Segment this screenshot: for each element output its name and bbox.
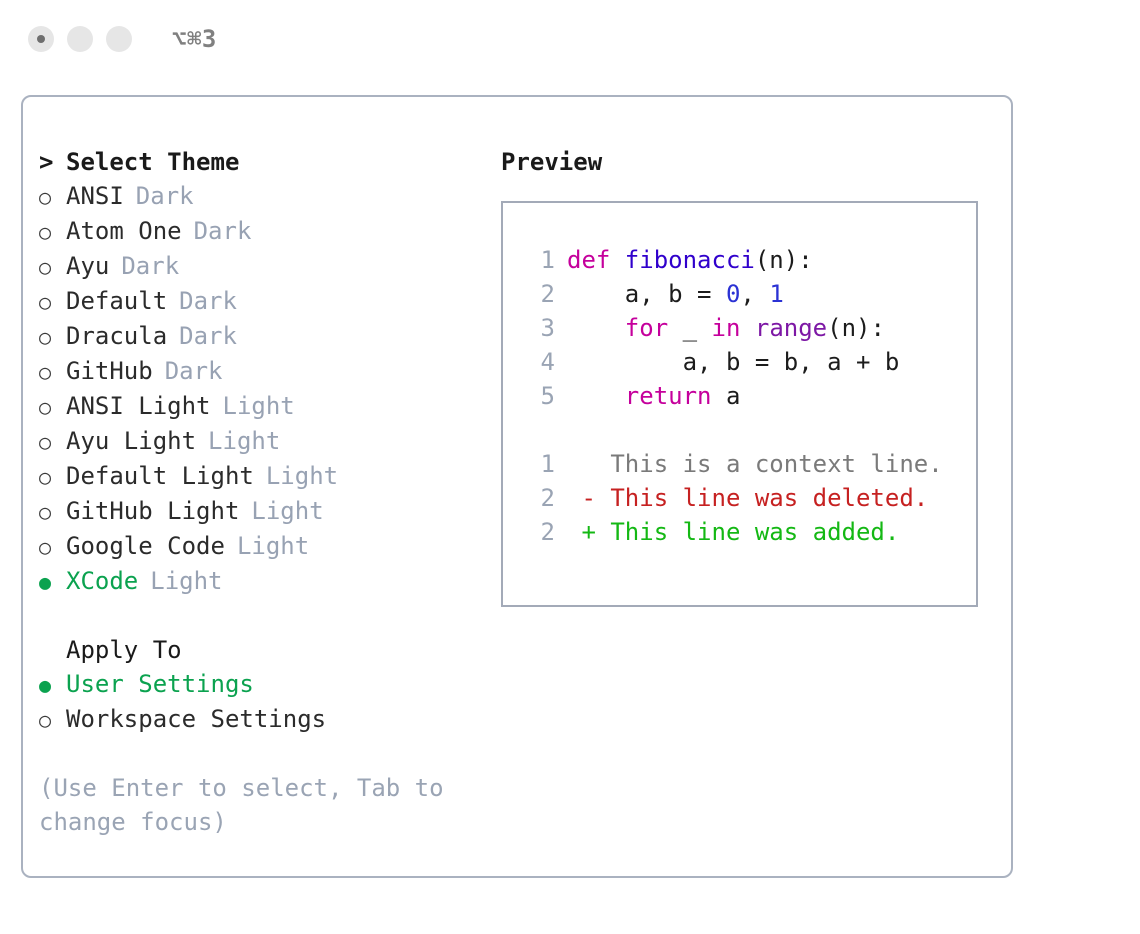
theme-option-badge: Light: [251, 494, 323, 528]
radio-unselected-icon: ○: [39, 530, 66, 564]
theme-option-badge: Dark: [179, 284, 237, 318]
theme-option-label: ANSI Light: [66, 389, 211, 423]
radio-unselected-icon: ○: [39, 250, 66, 284]
theme-option-badge: Light: [223, 389, 295, 423]
diff-line-text: - This line was deleted.: [567, 484, 928, 512]
radio-unselected-icon: ○: [39, 460, 66, 494]
theme-list-column: >Select Theme ○ANSIDark○Atom OneDark○Ayu…: [23, 97, 485, 876]
code-token-txt: [567, 314, 625, 342]
theme-option-badge: Dark: [136, 179, 194, 213]
radio-unselected-icon: ○: [39, 425, 66, 459]
theme-option-badge: Dark: [121, 249, 179, 283]
theme-option-badge: Light: [150, 564, 222, 598]
code-token-fn: fibonacci: [625, 246, 755, 274]
diff-line-ctx: 1 This is a context line.: [519, 447, 976, 481]
diff-sample: 1 This is a context line.2 - This line w…: [519, 447, 976, 549]
radio-unselected-icon: ○: [39, 703, 66, 737]
theme-selector-panel: >Select Theme ○ANSIDark○Atom OneDark○Ayu…: [21, 95, 1013, 878]
code-token-txt: ,: [740, 280, 769, 308]
preview-column: Preview 1def fibonacci(n):2 a, b = 0, 13…: [485, 97, 1011, 876]
code-token-txt: a: [712, 382, 741, 410]
app-window: ⌥⌘3 >Select Theme ○ANSIDark○Atom OneDark…: [0, 0, 1140, 934]
line-number: 1: [519, 243, 555, 277]
theme-option-label: XCode: [66, 564, 138, 598]
theme-option-ayu[interactable]: ○AyuDark: [39, 249, 485, 284]
theme-option-label: Google Code: [66, 529, 225, 563]
theme-option-github[interactable]: ○GitHubDark: [39, 354, 485, 389]
code-token-kw: for: [625, 314, 668, 342]
code-line: 5 return a: [519, 379, 976, 413]
code-line: 3 for _ in range(n):: [519, 311, 976, 345]
theme-option-badge: Dark: [165, 354, 223, 388]
diff-line-text: + This line was added.: [567, 518, 899, 546]
theme-option-badge: Light: [237, 529, 309, 563]
theme-option-label: GitHub: [66, 354, 153, 388]
theme-list-title-text: Select Theme: [66, 148, 239, 176]
code-preview-box: 1def fibonacci(n):2 a, b = 0, 13 for _ i…: [501, 201, 978, 607]
window-controls: [28, 26, 132, 52]
window-dot-2[interactable]: [67, 26, 93, 52]
theme-options-list: ○ANSIDark○Atom OneDark○AyuDark○DefaultDa…: [39, 179, 485, 599]
code-token-call: range: [755, 314, 827, 342]
radio-selected-icon: ●: [39, 668, 66, 702]
theme-option-dracula[interactable]: ○DraculaDark: [39, 319, 485, 354]
radio-unselected-icon: ○: [39, 495, 66, 529]
theme-option-default[interactable]: ○DefaultDark: [39, 284, 485, 319]
theme-option-label: Atom One: [66, 214, 182, 248]
theme-option-atom-one[interactable]: ○Atom OneDark: [39, 214, 485, 249]
line-number: 2: [519, 277, 555, 311]
code-sample: 1def fibonacci(n):2 a, b = 0, 13 for _ i…: [519, 243, 976, 413]
theme-option-badge: Light: [208, 424, 280, 458]
theme-option-label: Default Light: [66, 459, 254, 493]
apply-to-option-workspace-settings[interactable]: ○Workspace Settings: [39, 702, 485, 737]
apply-to-options-list: ●User Settings○Workspace Settings: [39, 667, 485, 737]
radio-unselected-icon: ○: [39, 390, 66, 424]
code-token-num: 0: [726, 280, 740, 308]
apply-to-option-label: Workspace Settings: [66, 702, 326, 736]
code-token-kw: return: [625, 382, 712, 410]
code-line: 2 a, b = 0, 1: [519, 277, 976, 311]
code-token-txt: _: [668, 314, 711, 342]
code-token-punc: (n):: [755, 246, 813, 274]
diff-line-text: This is a context line.: [567, 450, 943, 478]
diff-line-del: 2 - This line was deleted.: [519, 481, 976, 515]
code-token-kw: def: [567, 246, 625, 274]
code-blank-line: [519, 413, 976, 447]
code-token-punc: (n):: [827, 314, 885, 342]
radio-unselected-icon: ○: [39, 180, 66, 214]
theme-option-label: Default: [66, 284, 167, 318]
window-dot-1[interactable]: [28, 26, 54, 52]
code-token-num: 1: [769, 280, 783, 308]
theme-option-badge: Light: [266, 459, 338, 493]
keyboard-shortcut-label: ⌥⌘3: [172, 25, 217, 53]
radio-unselected-icon: ○: [39, 285, 66, 319]
apply-to-header: Apply To: [39, 633, 485, 667]
list-spacer: [39, 599, 485, 633]
radio-unselected-icon: ○: [39, 355, 66, 389]
preview-title: Preview: [501, 145, 1011, 179]
diff-line-add: 2 + This line was added.: [519, 515, 976, 549]
line-number: 3: [519, 311, 555, 345]
code-line: 1def fibonacci(n):: [519, 243, 976, 277]
line-number: 5: [519, 379, 555, 413]
code-token-txt: a, b =: [567, 280, 726, 308]
window-dot-3[interactable]: [106, 26, 132, 52]
titlebar: ⌥⌘3: [0, 0, 1140, 78]
theme-option-xcode[interactable]: ●XCodeLight: [39, 564, 485, 599]
theme-option-label: Ayu Light: [66, 424, 196, 458]
radio-selected-icon: ●: [39, 565, 66, 599]
theme-option-ansi[interactable]: ○ANSIDark: [39, 179, 485, 214]
code-token-txt: [567, 382, 625, 410]
theme-option-badge: Dark: [194, 214, 252, 248]
line-number: 4: [519, 345, 555, 379]
theme-option-ayu-light[interactable]: ○Ayu LightLight: [39, 424, 485, 459]
code-token-txt: [740, 314, 754, 342]
theme-option-label: Ayu: [66, 249, 109, 283]
keyboard-hint: (Use Enter to select, Tab to change focu…: [39, 771, 459, 839]
code-token-kw: in: [712, 314, 741, 342]
theme-option-github-light[interactable]: ○GitHub LightLight: [39, 494, 485, 529]
line-number: 2: [519, 481, 555, 515]
theme-option-label: Dracula: [66, 319, 167, 353]
apply-to-option-label: User Settings: [66, 667, 254, 701]
line-number: 1: [519, 447, 555, 481]
theme-option-default-light[interactable]: ○Default LightLight: [39, 459, 485, 494]
radio-unselected-icon: ○: [39, 215, 66, 249]
code-line: 4 a, b = b, a + b: [519, 345, 976, 379]
theme-option-ansi-light[interactable]: ○ANSI LightLight: [39, 389, 485, 424]
code-token-txt: a, b = b, a + b: [567, 348, 899, 376]
theme-list-title: >Select Theme: [39, 145, 485, 179]
caret-icon: >: [39, 145, 66, 179]
theme-option-google-code[interactable]: ○Google CodeLight: [39, 529, 485, 564]
line-number: 2: [519, 515, 555, 549]
theme-option-label: GitHub Light: [66, 494, 239, 528]
theme-option-label: ANSI: [66, 179, 124, 213]
apply-to-option-user-settings[interactable]: ●User Settings: [39, 667, 485, 702]
theme-option-badge: Dark: [179, 319, 237, 353]
radio-unselected-icon: ○: [39, 320, 66, 354]
